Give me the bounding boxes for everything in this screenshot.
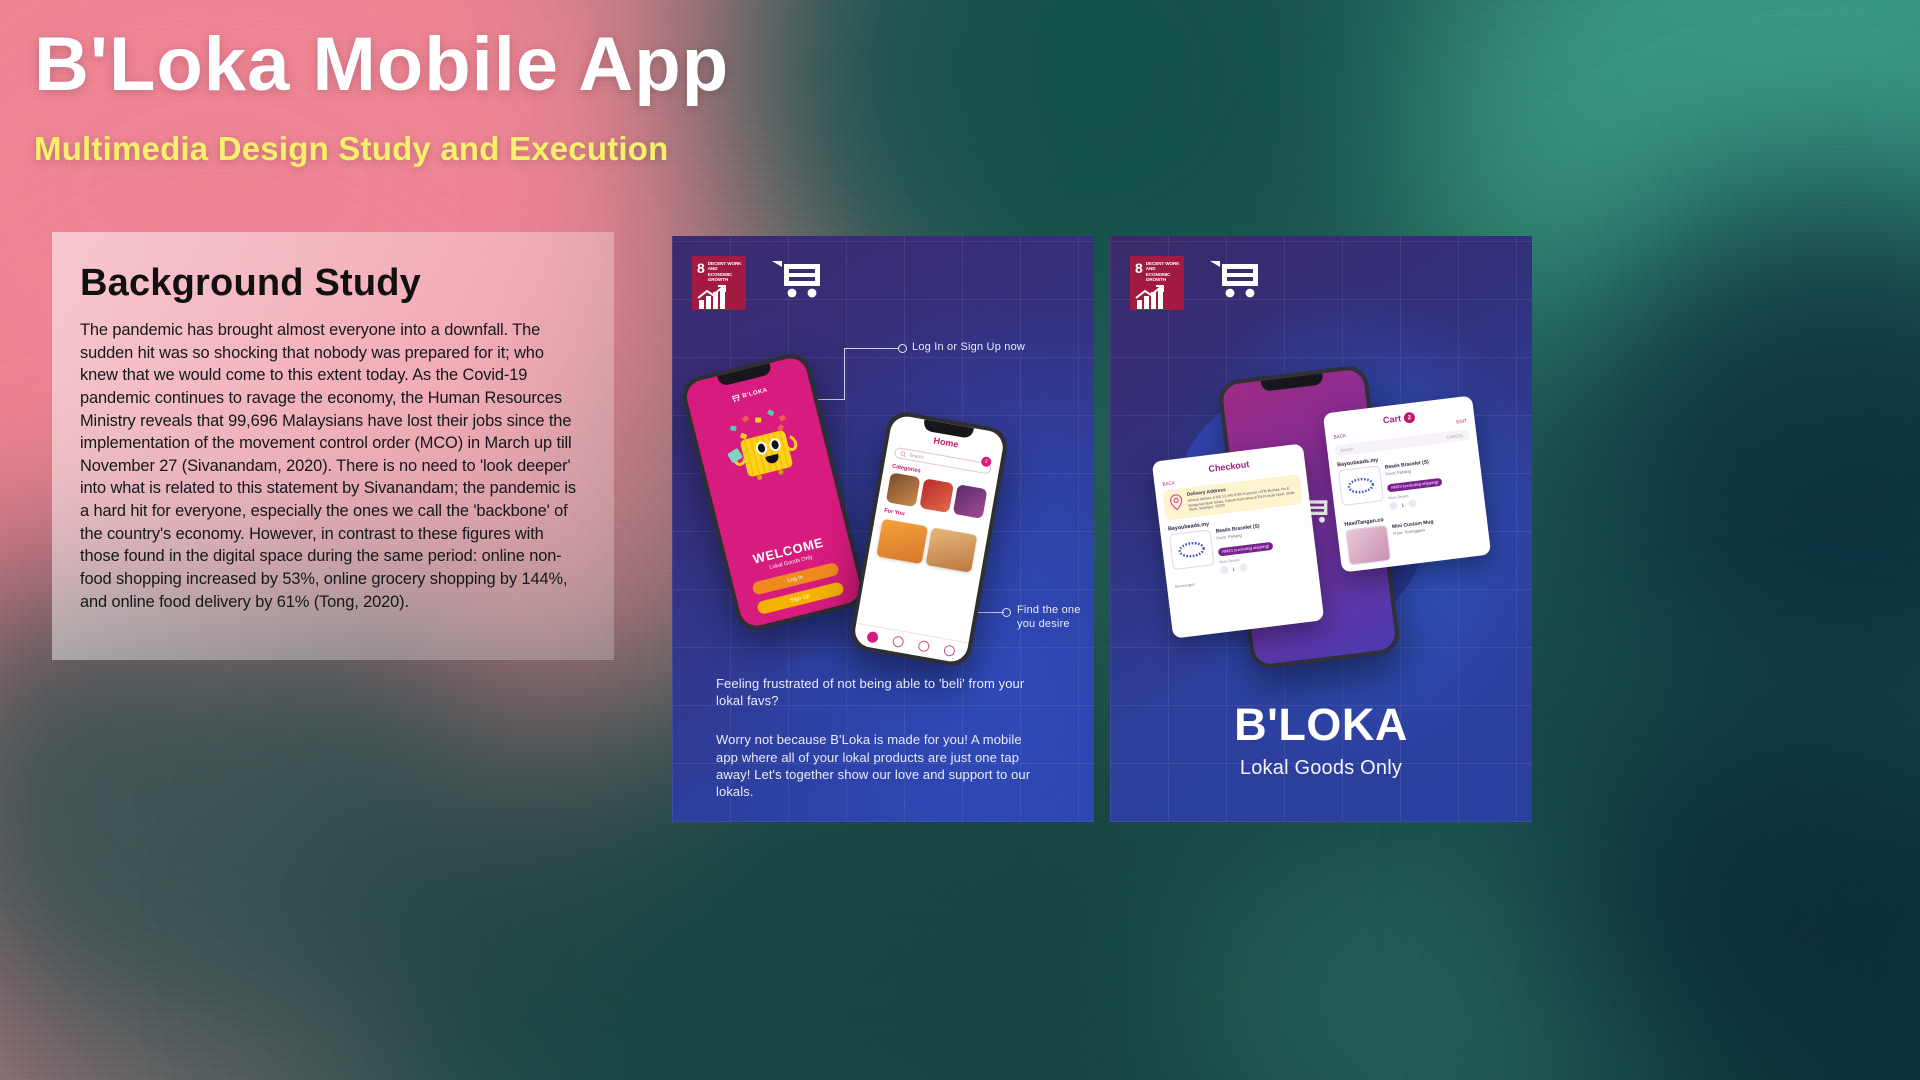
quantity-value: 1 xyxy=(1401,502,1404,507)
tab-favorites-icon[interactable] xyxy=(917,640,930,653)
category-item[interactable] xyxy=(886,472,921,507)
back-button[interactable]: BACK xyxy=(1333,433,1346,439)
mascot-illustration xyxy=(718,405,808,495)
shopping-cart-icon xyxy=(730,393,741,403)
poster-middle[interactable]: 8 DECENT WORK AND ECONOMIC GROWTH Log In… xyxy=(672,236,1094,822)
growth-chart-arrow-icon xyxy=(1135,285,1165,311)
sdg-label-line1: DECENT WORK AND xyxy=(708,261,742,272)
cart-count-badge: 2 xyxy=(1403,412,1415,424)
app-logo-text: B'LOKA xyxy=(742,387,768,399)
search-placeholder: Search xyxy=(909,452,924,459)
cart-title: Cart xyxy=(1382,413,1401,425)
tab-profile-icon[interactable] xyxy=(943,644,956,657)
poster-right[interactable]: 8 DECENT WORK AND ECONOMIC GROWTH xyxy=(1110,236,1532,822)
shopping-cart-icon xyxy=(1208,258,1262,302)
poster-middle-caption: Feeling frustrated of not being able to … xyxy=(716,675,1046,800)
quantity-decrease-button[interactable] xyxy=(1220,565,1229,574)
brand-tagline: Lokal Goods Only xyxy=(1110,757,1532,780)
cancel-button[interactable]: CANCEL xyxy=(1446,433,1463,440)
bracelet-icon xyxy=(1344,474,1378,498)
page-subtitle: Multimedia Design Study and Execution xyxy=(34,130,729,168)
card-checkout[interactable]: Checkout BACK Delivery Address Ahmad Idz… xyxy=(1152,443,1325,638)
annotation-leader-login xyxy=(844,348,898,349)
annotation-leader-login-vertical xyxy=(844,348,845,400)
product-card[interactable] xyxy=(876,519,928,564)
phone-notch xyxy=(1261,373,1324,392)
category-item[interactable] xyxy=(953,484,988,519)
quantity-decrease-button[interactable] xyxy=(1389,501,1398,510)
brand-name: B'LOKA xyxy=(1110,699,1532,751)
product-thumbnail xyxy=(1345,525,1391,566)
sdg-label-line1: DECENT WORK AND xyxy=(1146,261,1180,272)
location-pin-icon xyxy=(1169,493,1184,510)
quantity-increase-button[interactable] xyxy=(1238,563,1247,572)
sdg-number: 8 xyxy=(697,261,705,275)
card-cart[interactable]: Cart2 BACK EDIT Search CANCEL Bayoubeads… xyxy=(1323,395,1491,572)
back-button[interactable]: BACK xyxy=(1162,480,1175,486)
search-placeholder: Search xyxy=(1340,446,1354,453)
product-card[interactable] xyxy=(925,527,977,572)
product-thumbnail xyxy=(1338,465,1384,506)
quantity-increase-button[interactable] xyxy=(1407,499,1416,508)
product-thumbnail xyxy=(1169,529,1215,570)
background-study-card: Background Study The pandemic has brough… xyxy=(52,232,614,660)
shopping-cart-icon xyxy=(770,258,824,302)
tab-home-icon[interactable] xyxy=(866,631,879,644)
annotation-login-label: Log In or Sign Up now xyxy=(912,341,1025,355)
sdg-8-badge: 8 DECENT WORK AND ECONOMIC GROWTH xyxy=(1130,256,1184,310)
sdg-label-line2: ECONOMIC GROWTH xyxy=(1146,272,1180,283)
growth-chart-arrow-icon xyxy=(697,285,727,311)
search-icon xyxy=(900,450,907,457)
brand-lockup: B'LOKA Lokal Goods Only xyxy=(1110,699,1532,780)
page-title: B'Loka Mobile App xyxy=(34,26,729,104)
annotation-dot-login xyxy=(898,344,907,353)
quantity-value: 1 xyxy=(1232,566,1235,571)
annotation-find-label: Find the one you desire xyxy=(1017,604,1081,632)
category-item[interactable] xyxy=(919,478,954,513)
sdg-number: 8 xyxy=(1135,261,1143,275)
tab-shop-icon[interactable] xyxy=(891,635,904,648)
background-study-heading: Background Study xyxy=(80,262,586,305)
edit-button[interactable]: EDIT xyxy=(1456,418,1467,424)
home-title: Home xyxy=(933,435,959,449)
background-study-body: The pandemic has brought almost everyone… xyxy=(80,319,586,613)
caption-paragraph-2: Worry not because B'Loka is made for you… xyxy=(716,731,1046,800)
caption-paragraph-1: Feeling frustrated of not being able to … xyxy=(716,675,1046,709)
sdg-label-line2: ECONOMIC GROWTH xyxy=(708,272,742,283)
annotation-find-line2: you desire xyxy=(1017,618,1081,632)
page-header: B'Loka Mobile App Multimedia Design Stud… xyxy=(34,26,729,168)
bracelet-icon xyxy=(1175,538,1209,562)
app-logo-welcome: B'LOKA xyxy=(730,387,769,404)
sdg-8-badge: 8 DECENT WORK AND ECONOMIC GROWTH xyxy=(692,256,746,310)
annotation-find-line1: Find the one xyxy=(1017,604,1081,618)
